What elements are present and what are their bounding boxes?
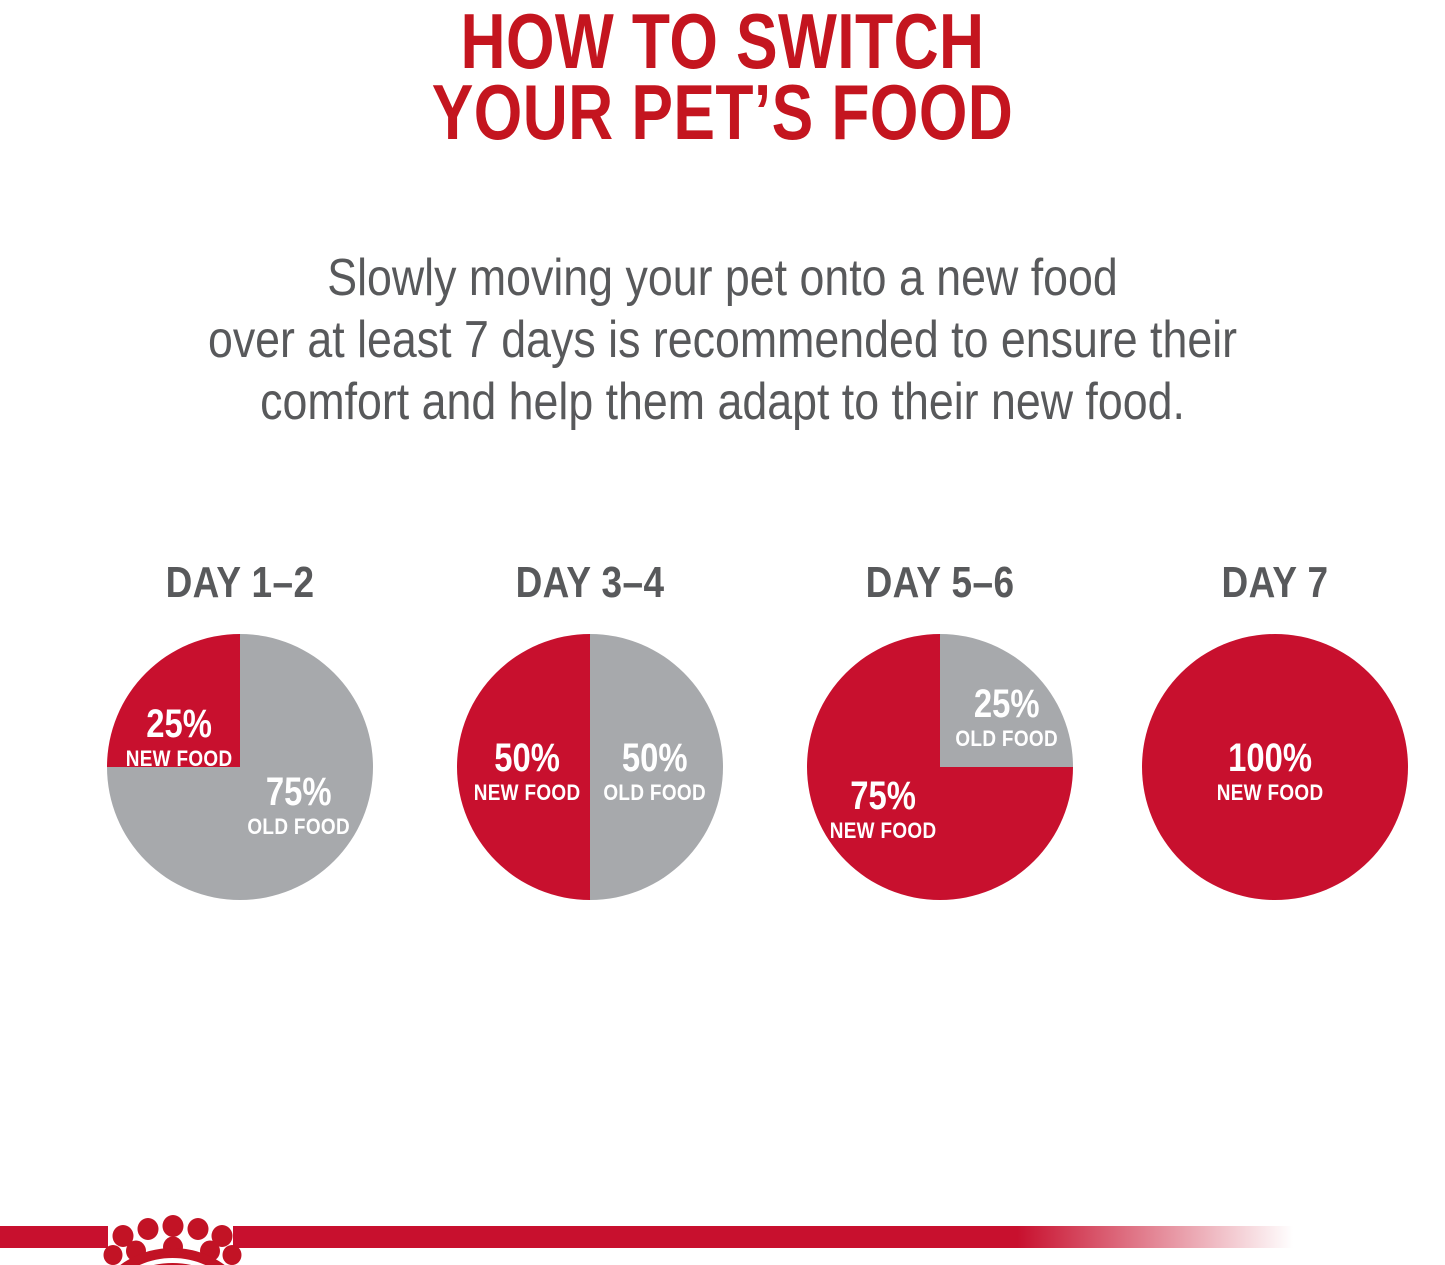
day-label-2: DAY 3–4 xyxy=(464,558,716,608)
day-label-4: DAY 7 xyxy=(1149,558,1401,608)
pie-chart-4: DAY 7100%NEW FOOD xyxy=(1125,558,1425,900)
pie-chart-row: DAY 1–225%NEW FOOD75%OLD FOODDAY 3–450%N… xyxy=(0,558,1445,958)
pie-slice-new-food xyxy=(1142,634,1408,900)
page-title-line-2: YOUR PET’S FOOD xyxy=(145,77,1301,148)
page-title: HOW TO SWITCH YOUR PET’S FOOD xyxy=(145,6,1301,148)
page-title-line-1: HOW TO SWITCH xyxy=(145,6,1301,77)
pie-slice-old-food xyxy=(590,634,723,900)
subtitle-line-2: over at least 7 days is recommended to e… xyxy=(101,309,1344,371)
subtitle-line-3: comfort and help them adapt to their new… xyxy=(101,371,1344,433)
pie-graphic-3: 25%OLD FOOD75%NEW FOOD xyxy=(807,634,1073,900)
pie-graphic-4: 100%NEW FOOD xyxy=(1142,634,1408,900)
footer-bar-right xyxy=(233,1226,1293,1248)
pie-slice-new-food xyxy=(457,634,590,900)
subtitle-line-1: Slowly moving your pet onto a new food xyxy=(101,247,1344,309)
pie-chart-2: DAY 3–450%NEW FOOD50%OLD FOOD xyxy=(440,558,740,900)
day-label-3: DAY 5–6 xyxy=(814,558,1066,608)
pie-slice-new-food xyxy=(107,634,240,767)
footer-bar-left xyxy=(0,1226,108,1248)
day-label-1: DAY 1–2 xyxy=(114,558,366,608)
pie-slice-old-food xyxy=(940,634,1073,767)
pie-chart-3: DAY 5–625%OLD FOOD75%NEW FOOD xyxy=(790,558,1090,900)
footer xyxy=(0,1212,1445,1265)
subtitle: Slowly moving your pet onto a new food o… xyxy=(101,247,1344,433)
pie-chart-1: DAY 1–225%NEW FOOD75%OLD FOOD xyxy=(90,558,390,900)
pie-graphic-2: 50%NEW FOOD50%OLD FOOD xyxy=(457,634,723,900)
royal-canin-crown-icon xyxy=(100,1212,245,1265)
pie-graphic-1: 25%NEW FOOD75%OLD FOOD xyxy=(107,634,373,900)
